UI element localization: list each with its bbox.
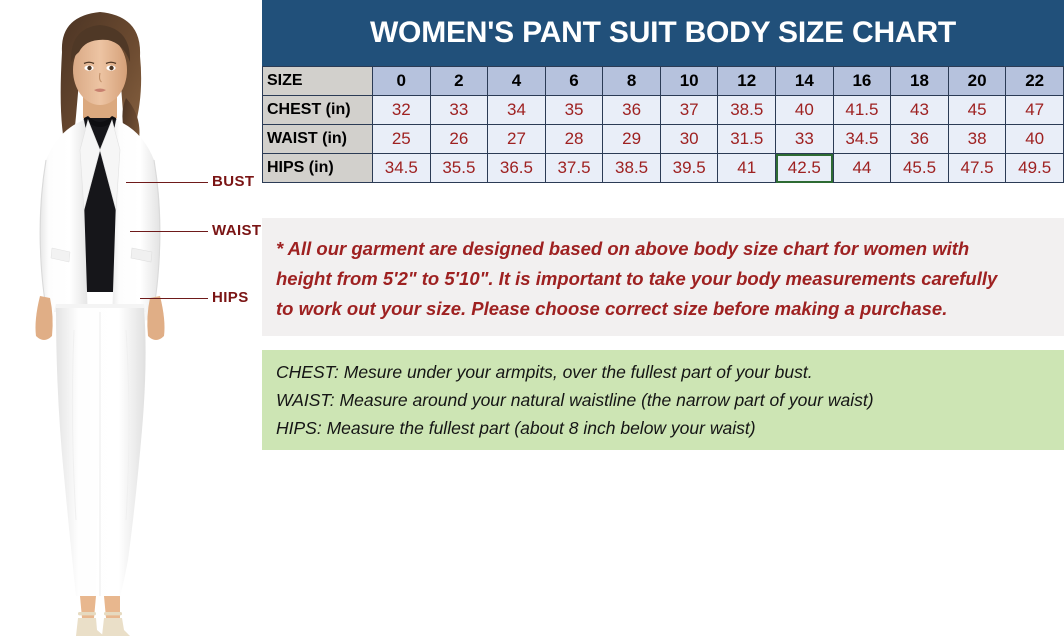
cell-waist-size-18[interactable]: 36 bbox=[891, 125, 949, 154]
cell-hips-size-18[interactable]: 45.5 bbox=[891, 154, 949, 183]
cell-waist-size-0[interactable]: 25 bbox=[373, 125, 431, 154]
table-row: HIPS (in)34.535.536.537.538.539.54142.54… bbox=[263, 154, 1064, 183]
how-to-measure-chest: CHEST: Mesure under your armpits, over t… bbox=[276, 358, 1050, 386]
sizing-note-line-3: to work out your size. Please choose cor… bbox=[276, 294, 1050, 324]
hips-label: HIPS bbox=[212, 289, 249, 306]
size-header-12: 12 bbox=[718, 67, 776, 96]
cell-chest-size-12[interactable]: 38.5 bbox=[718, 96, 776, 125]
size-header-14: 14 bbox=[776, 67, 834, 96]
sizing-note-line-1: * All our garment are designed based on … bbox=[276, 234, 1050, 264]
row-header-size: SIZE bbox=[263, 67, 373, 96]
size-header-18: 18 bbox=[891, 67, 949, 96]
how-to-measure-box: CHEST: Mesure under your armpits, over t… bbox=[262, 350, 1064, 450]
table-row: WAIST (in)25262728293031.53334.5363840 bbox=[263, 125, 1064, 154]
size-header-20: 20 bbox=[948, 67, 1006, 96]
cell-hips-size-8[interactable]: 38.5 bbox=[603, 154, 661, 183]
chart-title-bar: WOMEN'S PANT SUIT BODY SIZE CHART bbox=[262, 0, 1064, 66]
size-header-10: 10 bbox=[660, 67, 718, 96]
cell-chest-size-20[interactable]: 45 bbox=[948, 96, 1006, 125]
cell-waist-size-8[interactable]: 29 bbox=[603, 125, 661, 154]
cell-waist-size-12[interactable]: 31.5 bbox=[718, 125, 776, 154]
sizing-note-box: * All our garment are designed based on … bbox=[262, 218, 1064, 336]
hips-measure-ellipse bbox=[8, 284, 150, 310]
waist-measure-ellipse bbox=[18, 218, 138, 244]
cell-chest-size-8[interactable]: 36 bbox=[603, 96, 661, 125]
size-table-container: SIZE0246810121416182022CHEST (in)3233343… bbox=[262, 66, 1064, 183]
row-header-waist: WAIST (in) bbox=[263, 125, 373, 154]
waist-leader-line bbox=[130, 231, 208, 232]
size-chart-table: SIZE0246810121416182022CHEST (in)3233343… bbox=[262, 66, 1064, 183]
cell-hips-size-20[interactable]: 47.5 bbox=[948, 154, 1006, 183]
sizing-note-line-2: height from 5'2" to 5'10". It is importa… bbox=[276, 264, 1050, 294]
cell-hips-size-14[interactable]: 42.5 bbox=[776, 154, 834, 183]
cell-waist-size-20[interactable]: 38 bbox=[948, 125, 1006, 154]
cell-waist-size-2[interactable]: 26 bbox=[430, 125, 488, 154]
cell-hips-size-4[interactable]: 36.5 bbox=[488, 154, 546, 183]
cell-chest-size-22[interactable]: 47 bbox=[1006, 96, 1064, 125]
cell-chest-size-18[interactable]: 43 bbox=[891, 96, 949, 125]
cell-hips-size-12[interactable]: 41 bbox=[718, 154, 776, 183]
cell-waist-size-6[interactable]: 28 bbox=[545, 125, 603, 154]
cell-chest-size-6[interactable]: 35 bbox=[545, 96, 603, 125]
cell-hips-size-22[interactable]: 49.5 bbox=[1006, 154, 1064, 183]
row-header-hips: HIPS (in) bbox=[263, 154, 373, 183]
cell-waist-size-10[interactable]: 30 bbox=[660, 125, 718, 154]
cell-hips-size-16[interactable]: 44 bbox=[833, 154, 891, 183]
cell-chest-size-10[interactable]: 37 bbox=[660, 96, 718, 125]
size-header-8: 8 bbox=[603, 67, 661, 96]
cell-waist-size-4[interactable]: 27 bbox=[488, 125, 546, 154]
bust-leader-line bbox=[126, 182, 208, 183]
size-header-0: 0 bbox=[373, 67, 431, 96]
size-header-2: 2 bbox=[430, 67, 488, 96]
size-header-4: 4 bbox=[488, 67, 546, 96]
chart-panel: WOMEN'S PANT SUIT BODY SIZE CHART SIZE02… bbox=[262, 0, 1064, 639]
how-to-measure-waist: WAIST: Measure around your natural waist… bbox=[276, 386, 1050, 414]
size-header-16: 16 bbox=[833, 67, 891, 96]
cell-chest-size-14[interactable]: 40 bbox=[776, 96, 834, 125]
page-title: WOMEN'S PANT SUIT BODY SIZE CHART bbox=[370, 16, 956, 50]
cell-waist-size-16[interactable]: 34.5 bbox=[833, 125, 891, 154]
cell-hips-size-2[interactable]: 35.5 bbox=[430, 154, 488, 183]
how-to-measure-hips: HIPS: Measure the fullest part (about 8 … bbox=[276, 414, 1050, 442]
cell-chest-size-0[interactable]: 32 bbox=[373, 96, 431, 125]
bust-label: BUST bbox=[212, 173, 254, 190]
size-header-6: 6 bbox=[545, 67, 603, 96]
cell-waist-size-14[interactable]: 33 bbox=[776, 125, 834, 154]
size-header-22: 22 bbox=[1006, 67, 1064, 96]
cell-chest-size-4[interactable]: 34 bbox=[488, 96, 546, 125]
hips-leader-line bbox=[140, 298, 208, 299]
table-header-row: SIZE0246810121416182022 bbox=[263, 67, 1064, 96]
cell-chest-size-16[interactable]: 41.5 bbox=[833, 96, 891, 125]
bust-measure-ellipse bbox=[6, 170, 134, 194]
cell-chest-size-2[interactable]: 33 bbox=[430, 96, 488, 125]
model-figure-illustration bbox=[0, 0, 200, 639]
cell-hips-size-10[interactable]: 39.5 bbox=[660, 154, 718, 183]
row-header-chest: CHEST (in) bbox=[263, 96, 373, 125]
table-row: CHEST (in)32333435363738.54041.5434547 bbox=[263, 96, 1064, 125]
model-photo-panel: BUST WAIST HIPS bbox=[0, 0, 262, 639]
cell-fill-handle[interactable] bbox=[831, 180, 834, 183]
cell-hips-size-0[interactable]: 34.5 bbox=[373, 154, 431, 183]
size-chart-image: BUST WAIST HIPS WOMEN'S PANT SUIT BODY S… bbox=[0, 0, 1064, 639]
waist-label: WAIST bbox=[212, 222, 262, 239]
cell-hips-size-6[interactable]: 37.5 bbox=[545, 154, 603, 183]
cell-waist-size-22[interactable]: 40 bbox=[1006, 125, 1064, 154]
